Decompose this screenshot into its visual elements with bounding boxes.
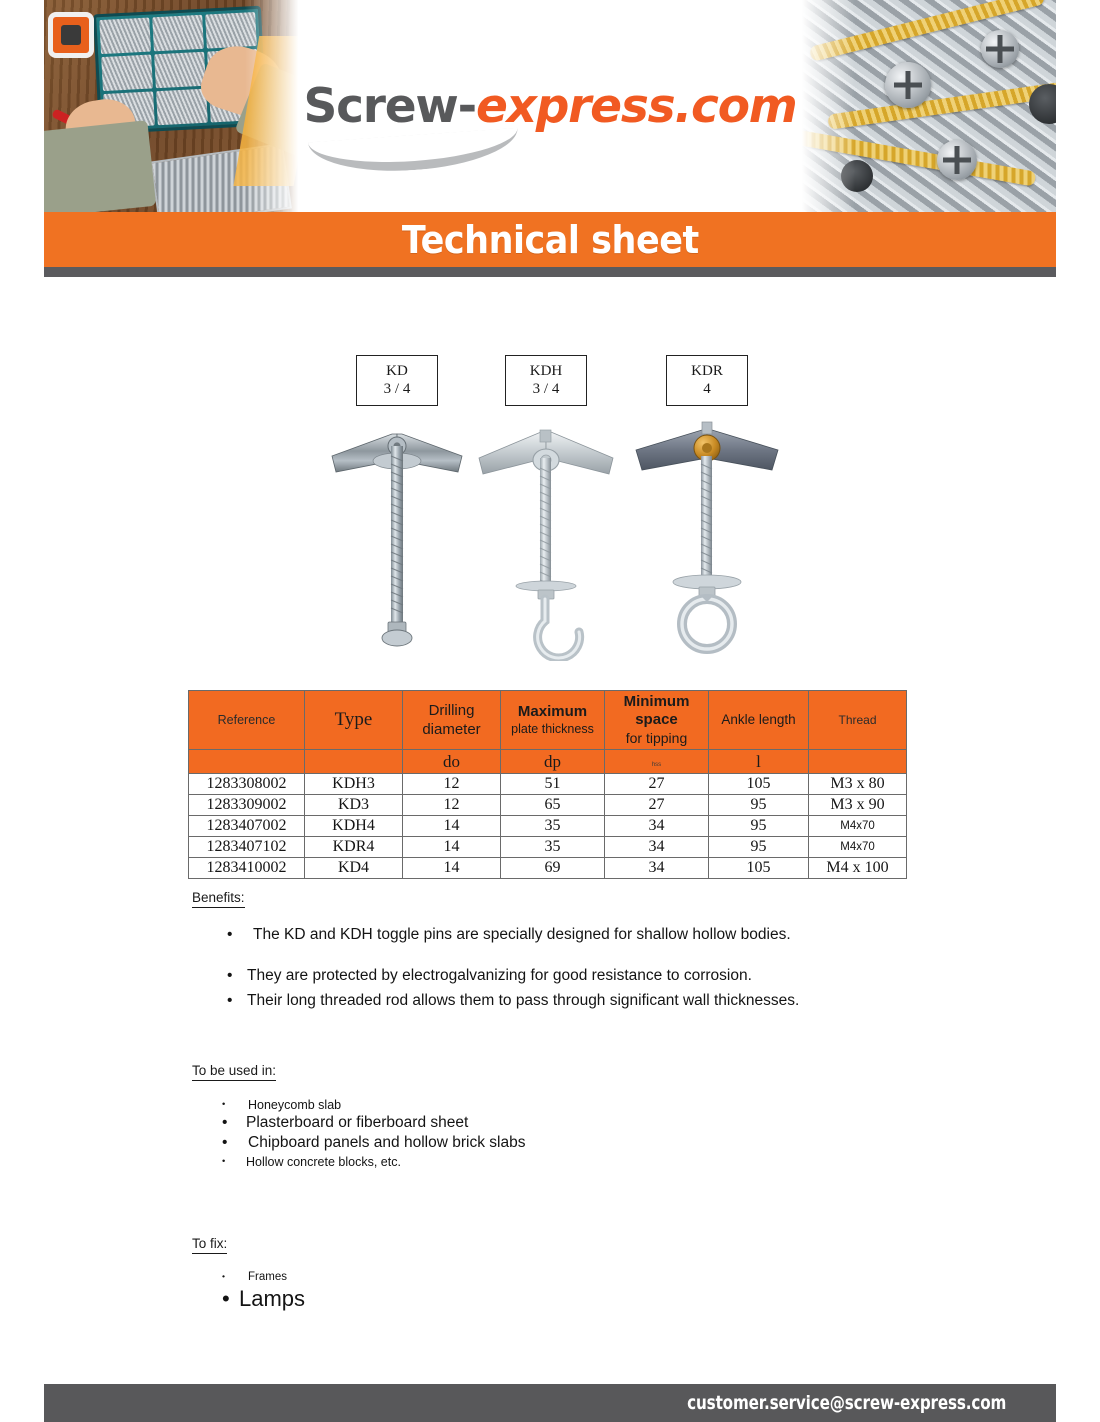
table-body: 1283308002 KDH3 12 51 27 105 M3 x 80 128… (189, 774, 907, 879)
cell-ankle-length: 95 (709, 837, 809, 858)
cell-type: KDR4 (305, 837, 403, 858)
header-banner: Screw-express.com (44, 0, 1056, 212)
list-item: They are protected by electrogalvanizing… (225, 966, 925, 985)
product-kdh-code: KDH (508, 362, 584, 380)
cell-drilling-diameter: 12 (403, 795, 501, 816)
cell-ankle-length: 95 (709, 816, 809, 837)
cell-min-space-tipping: 27 (605, 774, 709, 795)
cell-min-space-tipping: 27 (605, 795, 709, 816)
screw-pile-photo (797, 0, 1056, 212)
cell-thread: M4x70 (809, 816, 907, 837)
product-kdr-code: KDR (669, 362, 745, 380)
product-diagram-row: KD 3 / 4 (44, 355, 1056, 675)
cell-max-plate-thickness: 69 (501, 858, 605, 879)
usage-heading: To be used in: (192, 1063, 276, 1078)
list-item: Lamps (220, 1285, 920, 1313)
cell-type: KDH3 (305, 774, 403, 795)
product-kd-code: KD (359, 362, 435, 380)
product-kdh: KDH 3 / 4 (456, 355, 636, 661)
page-title: Technical sheet (402, 218, 699, 262)
column-header-min-space-tipping: Minimum space for tipping (605, 691, 709, 750)
column-header-ankle-length: Ankle length (709, 691, 809, 750)
list-item: Chipboard panels and hollow brick slabs (220, 1133, 920, 1153)
product-kdh-sizes: 3 / 4 (508, 380, 584, 398)
cell-type: KD3 (305, 795, 403, 816)
table-row: 1283309002 KD3 12 65 27 95 M3 x 90 (189, 795, 907, 816)
cell-thread: M3 x 80 (809, 774, 907, 795)
cell-thread: M4 x 100 (809, 858, 907, 879)
cell-type: KDH4 (305, 816, 403, 837)
cell-min-space-tipping: 34 (605, 858, 709, 879)
cell-reference: 1283309002 (189, 795, 305, 816)
specification-table: Reference Type Drilling diameter Maximum… (188, 690, 907, 879)
cell-ankle-length: 95 (709, 795, 809, 816)
benefits-list: The KD and KDH toggle pins are specially… (225, 925, 925, 1010)
product-kdr: KDR 4 (617, 355, 797, 661)
product-kdr-sizes: 4 (669, 380, 745, 398)
symbol-dp: dp (501, 750, 605, 774)
symbol-thread (809, 750, 907, 774)
tape-measure-icon (48, 12, 94, 58)
cell-max-plate-thickness: 65 (501, 795, 605, 816)
title-underbar-divider (44, 267, 1056, 277)
table-row: 1283407002 KDH4 14 35 34 95 M4x70 (189, 816, 907, 837)
cell-drilling-diameter: 12 (403, 774, 501, 795)
cell-thread: M3 x 90 (809, 795, 907, 816)
table-symbol-row: do dp hss l (189, 750, 907, 774)
table-row: 1283308002 KDH3 12 51 27 105 M3 x 80 (189, 774, 907, 795)
benefits-heading: Benefits: (192, 890, 245, 905)
fixing-list: Frames Lamps (220, 1270, 920, 1312)
logo-text-secondary: express.com (476, 79, 797, 134)
usage-list: Honeycomb slab Plasterboard or fiberboar… (220, 1097, 920, 1170)
column-header-reference: Reference (189, 691, 305, 750)
cell-reference: 1283407002 (189, 816, 305, 837)
list-item: Plasterboard or fiberboard sheet (220, 1113, 920, 1133)
cell-max-plate-thickness: 35 (501, 816, 605, 837)
product-kdr-label: KDR 4 (666, 355, 748, 406)
contact-email[interactable]: customer.service@screw-express.com (687, 1392, 1056, 1414)
product-kd-sizes: 3 / 4 (359, 380, 435, 398)
footer-bar: customer.service@screw-express.com (44, 1384, 1056, 1422)
product-kd-image (322, 416, 472, 661)
symbol-type (305, 750, 403, 774)
table-header-row: Reference Type Drilling diameter Maximum… (189, 691, 907, 750)
product-kdh-image (471, 416, 621, 661)
column-header-type: Type (305, 691, 403, 750)
logo-swoosh-icon (308, 127, 520, 177)
cell-ankle-length: 105 (709, 774, 809, 795)
column-header-max-plate-thickness: Maximum plate thickness (501, 691, 605, 750)
brand-logo: Screw-express.com (303, 0, 796, 212)
symbol-reference (189, 750, 305, 774)
list-item: Hollow concrete blocks, etc. (220, 1154, 920, 1170)
cell-thread: M4x70 (809, 837, 907, 858)
column-header-drilling-diameter: Drilling diameter (403, 691, 501, 750)
column-header-thread: Thread (809, 691, 907, 750)
list-item: Frames (220, 1270, 920, 1285)
cell-type: KD4 (305, 858, 403, 879)
cell-drilling-diameter: 14 (403, 837, 501, 858)
cell-min-space-tipping: 34 (605, 837, 709, 858)
list-item: Honeycomb slab (220, 1097, 920, 1113)
list-item: The KD and KDH toggle pins are specially… (225, 925, 925, 944)
table-row: 1283410002 KD4 14 69 34 105 M4 x 100 (189, 858, 907, 879)
cell-drilling-diameter: 14 (403, 816, 501, 837)
product-kd-label: KD 3 / 4 (356, 355, 438, 406)
symbol-l: l (709, 750, 809, 774)
fixing-heading: To fix: (192, 1236, 227, 1251)
cell-min-space-tipping: 34 (605, 816, 709, 837)
cell-ankle-length: 105 (709, 858, 809, 879)
product-kdh-label: KDH 3 / 4 (505, 355, 587, 406)
cell-max-plate-thickness: 35 (501, 837, 605, 858)
cell-reference: 1283407102 (189, 837, 305, 858)
cell-drilling-diameter: 14 (403, 858, 501, 879)
technical-sheet-title-banner: Technical sheet (44, 212, 1056, 267)
symbol-hss: hss (605, 750, 709, 774)
workbench-photo (44, 0, 303, 212)
list-item: Their long threaded rod allows them to p… (225, 991, 925, 1010)
logo-text-primary: Screw- (303, 79, 476, 134)
cell-max-plate-thickness: 51 (501, 774, 605, 795)
product-kdr-image (632, 416, 782, 661)
cell-reference: 1283308002 (189, 774, 305, 795)
table-row: 1283407102 KDR4 14 35 34 95 M4x70 (189, 837, 907, 858)
cell-reference: 1283410002 (189, 858, 305, 879)
document-page: Screw-express.com Technical sheet KD (0, 0, 1100, 1422)
symbol-do: do (403, 750, 501, 774)
